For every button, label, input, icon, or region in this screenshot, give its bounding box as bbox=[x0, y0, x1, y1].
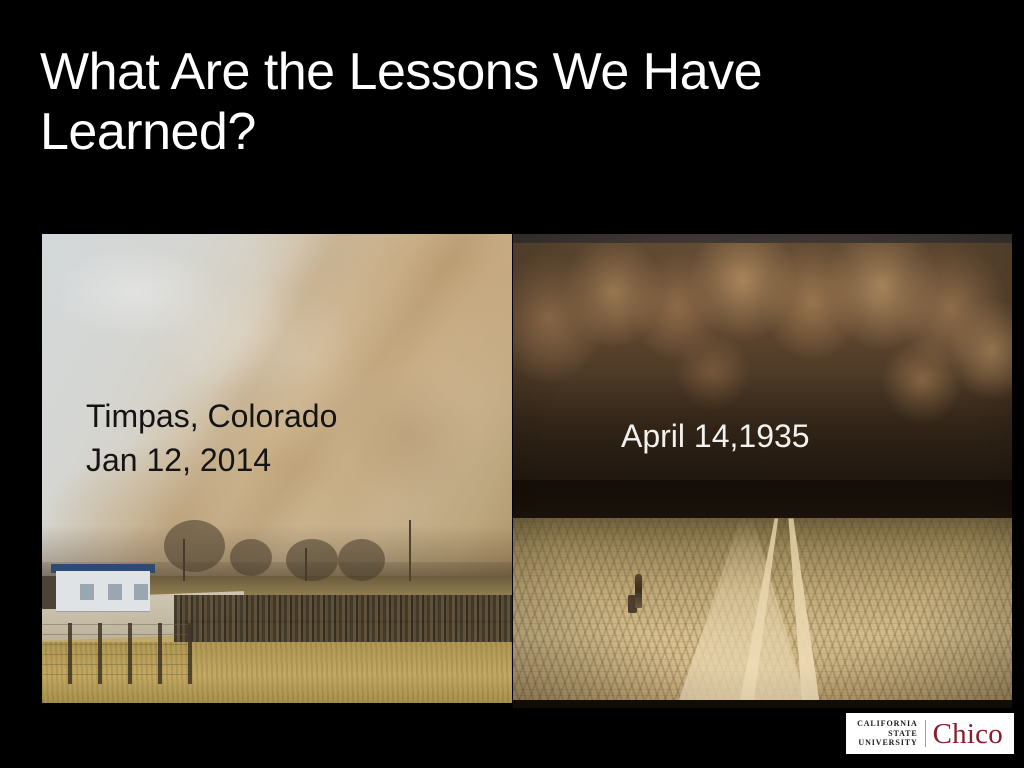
logo-content: CALIFORNIA STATE UNIVERSITY Chico bbox=[857, 719, 1003, 749]
slide-canvas: What Are the Lessons We Have Learned? Ti… bbox=[0, 0, 1024, 768]
left-photo-tree-trunk bbox=[183, 539, 185, 581]
logo-divider bbox=[925, 720, 926, 747]
page-title: What Are the Lessons We Have Learned? bbox=[40, 42, 980, 162]
left-photo-tree bbox=[338, 539, 385, 581]
right-photo-bottom-edge bbox=[513, 700, 1012, 708]
logo-line-california: CALIFORNIA bbox=[857, 719, 918, 729]
right-photo-caption: April 14,1935 bbox=[621, 417, 810, 455]
dust-bowl-1935-photo: April 14,1935 bbox=[513, 234, 1012, 708]
timpas-colorado-dust-storm-photo: Timpas, Colorado Jan 12, 2014 bbox=[42, 234, 512, 703]
csu-chico-logo: CALIFORNIA STATE UNIVERSITY Chico bbox=[846, 713, 1014, 754]
left-photo-utility-pole bbox=[409, 520, 411, 581]
left-photo-tree bbox=[286, 539, 338, 581]
left-photo-tree-trunk bbox=[305, 548, 307, 581]
left-photo-wire-fence bbox=[42, 623, 192, 684]
left-photo-house-window bbox=[108, 584, 122, 600]
right-photo-vignette bbox=[513, 234, 1012, 708]
logo-wordmark-chico: Chico bbox=[933, 719, 1003, 749]
logo-university-name: CALIFORNIA STATE UNIVERSITY bbox=[857, 719, 918, 748]
left-photo-house-window bbox=[134, 584, 148, 600]
logo-line-state: STATE bbox=[857, 729, 918, 739]
logo-line-university: UNIVERSITY bbox=[857, 738, 918, 748]
left-photo-caption: Timpas, Colorado Jan 12, 2014 bbox=[86, 394, 337, 482]
left-photo-tree bbox=[164, 520, 225, 572]
left-photo-house-window bbox=[80, 584, 94, 600]
left-photo-wooden-fence bbox=[174, 595, 512, 647]
